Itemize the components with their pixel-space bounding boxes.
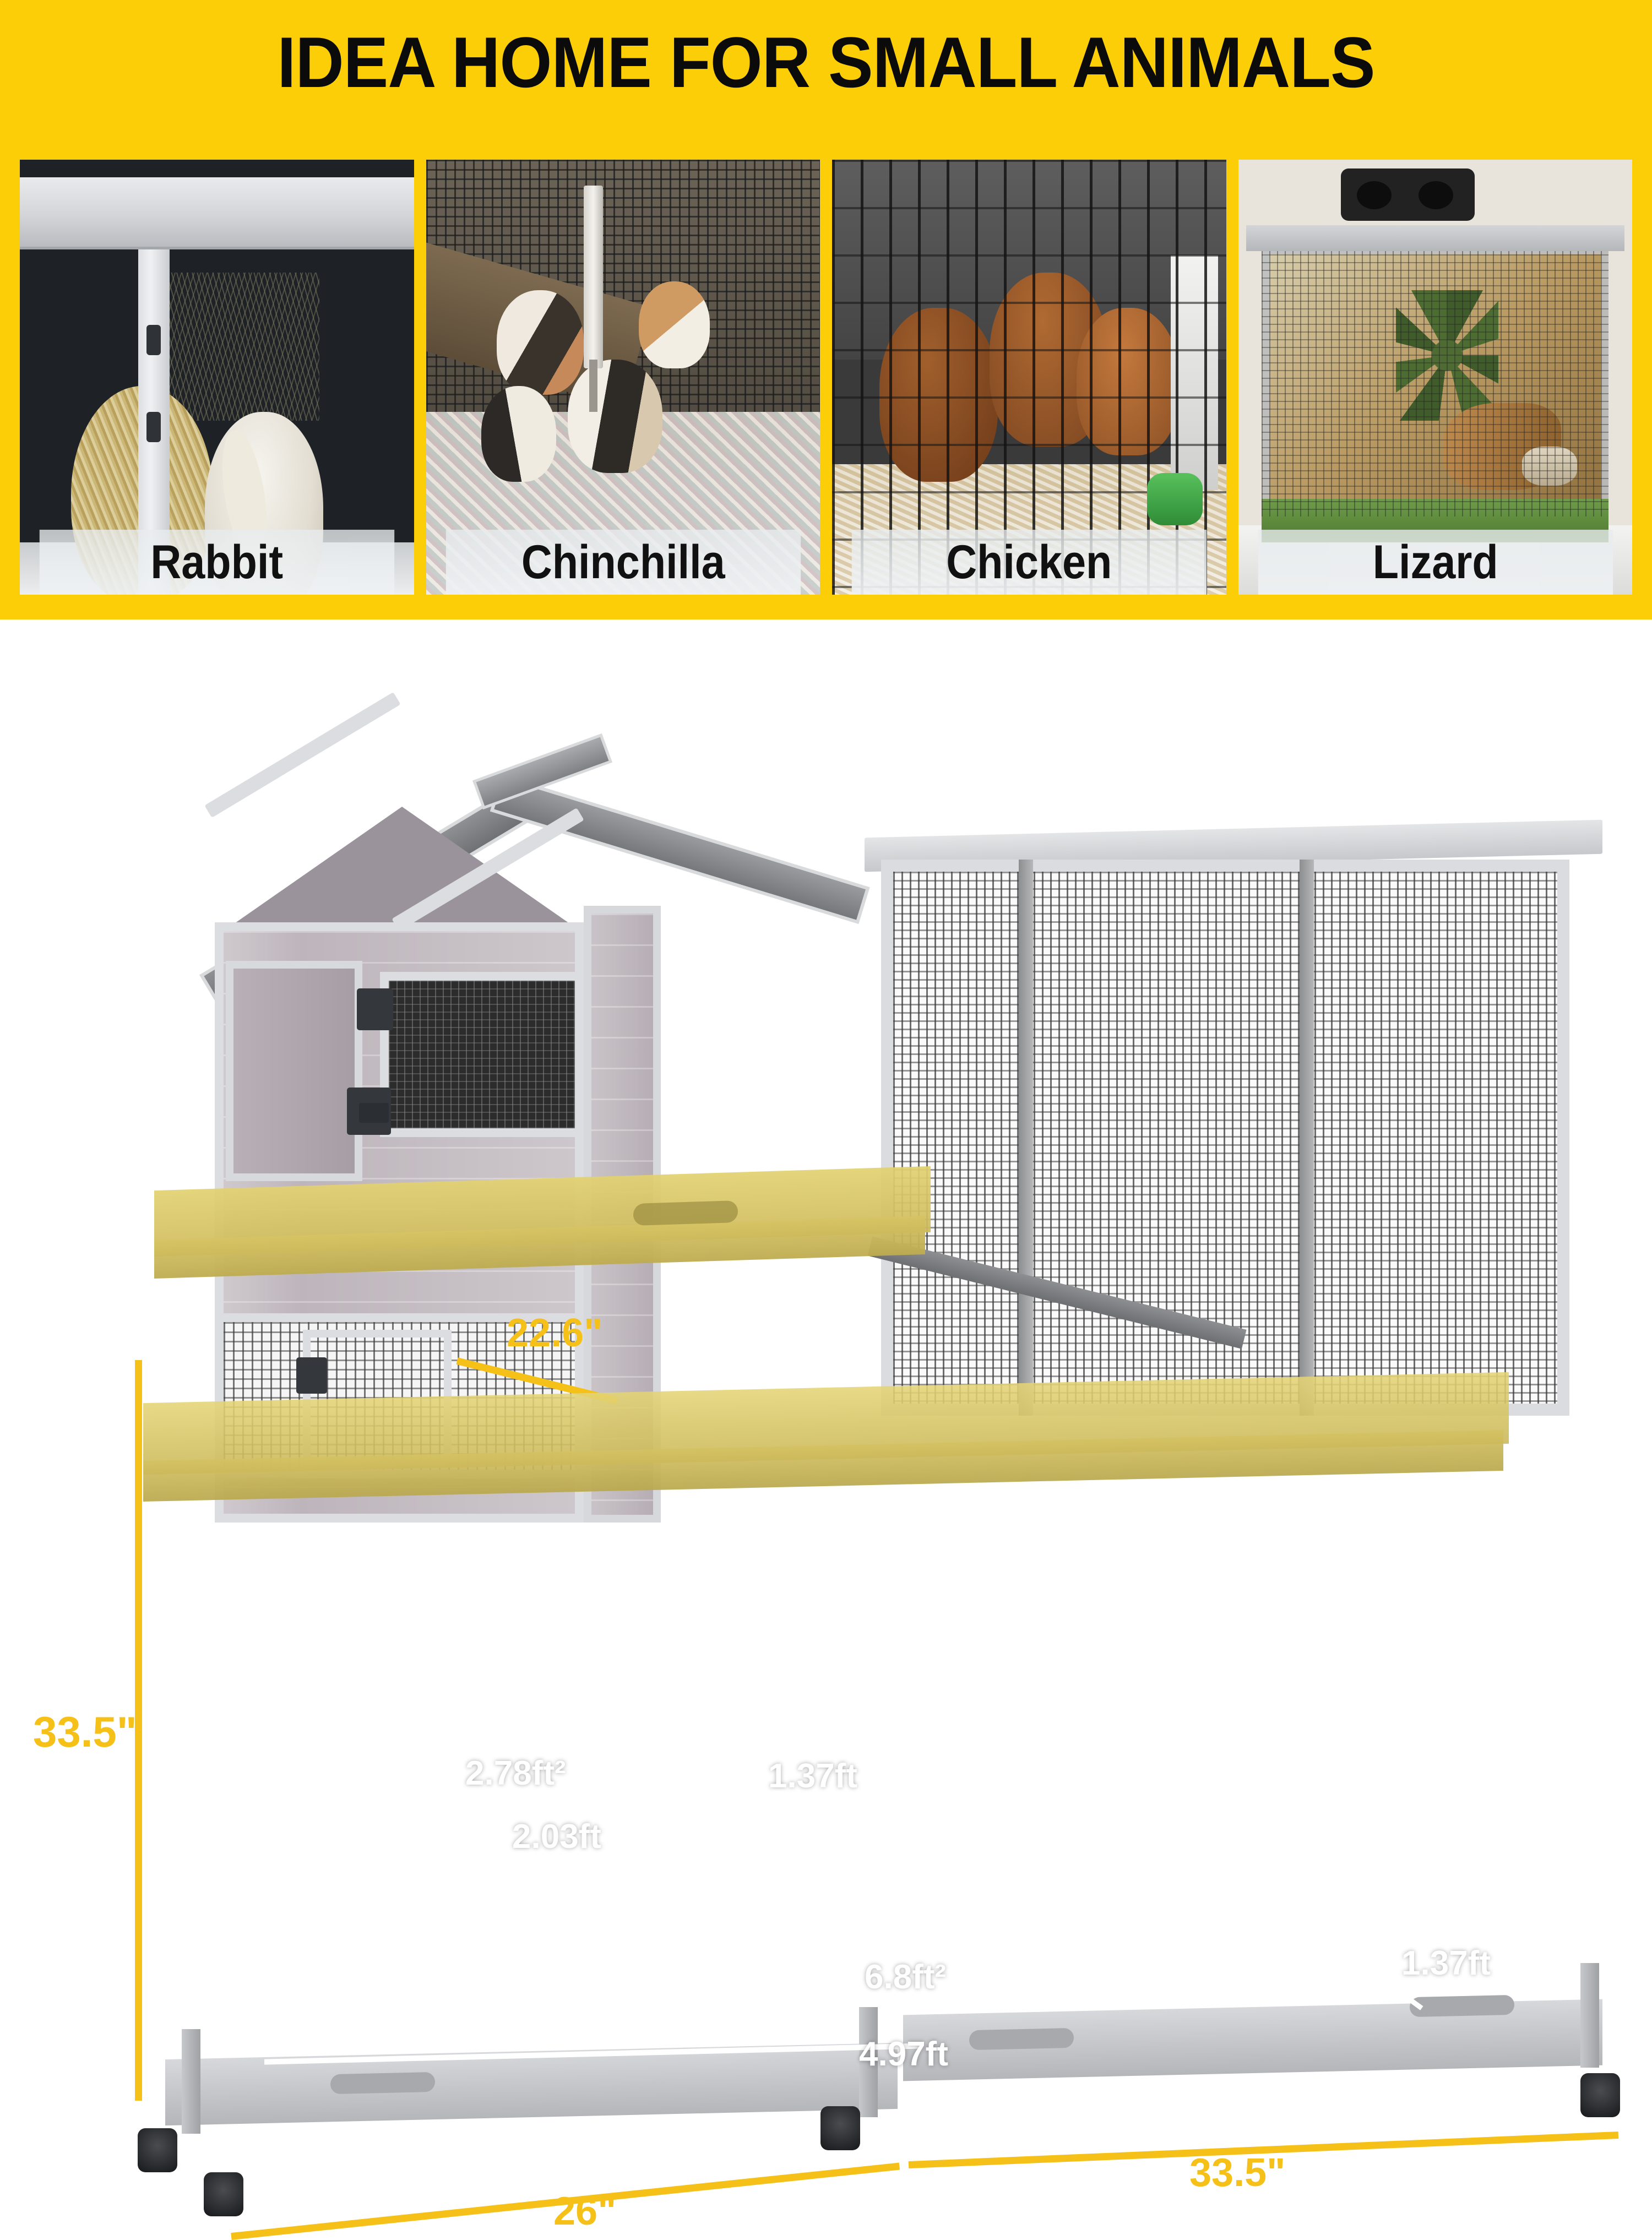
chinchilla-body <box>568 360 662 472</box>
chinchilla-body <box>497 290 583 395</box>
terrarium-mesh <box>1262 247 1608 516</box>
dimension-label-run-length: 33.5" <box>1189 2150 1285 2195</box>
dimension-label-upper-width: 2.03ft <box>512 1817 601 1856</box>
hinge-icon <box>146 325 161 355</box>
caster-wheel-icon <box>820 2106 860 2150</box>
water-bottle <box>584 186 604 368</box>
header-banner: IDEA HOME FOR SMALL ANIMALS Rabbit <box>0 0 1652 619</box>
chinchilla-body <box>639 281 710 368</box>
dimension-label-hutch-width: 26" <box>553 2189 616 2234</box>
photo-card-chicken: Chicken <box>832 160 1226 595</box>
tray-handle <box>633 1200 738 1226</box>
tray-handle <box>330 2072 435 2094</box>
hutch-shelf <box>20 177 414 249</box>
latch-icon[interactable] <box>359 1103 389 1123</box>
dimension-label-lower-depth: 1.37ft <box>1401 1944 1491 1983</box>
caster-wheel-icon <box>1580 2073 1620 2117</box>
photo-card-lizard: Lizard <box>1238 160 1633 595</box>
water-bottle-tip <box>589 360 598 412</box>
run-post <box>1019 860 1033 1416</box>
product-diagram: 22.6" 33.5" 2.78ft² 2.03ft 1.37ft 6.8ft²… <box>0 619 1652 1652</box>
page-title: IDEA HOME FOR SMALL ANIMALS <box>50 26 1602 98</box>
photo-label-rabbit: Rabbit <box>40 530 394 595</box>
mesh-texture <box>389 981 575 1128</box>
caster-wheel-icon <box>204 2172 243 2216</box>
run-post <box>1300 860 1314 1416</box>
leg <box>182 2029 200 2134</box>
hinge-icon <box>146 412 161 442</box>
dimension-label-upper-depth: 1.37ft <box>768 1757 857 1796</box>
mesh-texture <box>893 872 1557 1404</box>
animal-photo-strip: Rabbit Chinchilla Chicken <box>20 160 1632 595</box>
hinge-icon <box>357 988 393 1030</box>
area-label-lower-floor: 6.8ft² <box>865 1958 946 1997</box>
tray-handle <box>969 2028 1074 2050</box>
hay-texture <box>162 273 319 421</box>
dimension-label-roof-depth: 22.6" <box>507 1311 602 1356</box>
leg <box>1580 1963 1599 2068</box>
dimension-label-lower-width: 4.97ft <box>859 2035 948 2074</box>
heat-lamp-icon <box>1341 168 1475 221</box>
photo-label-chinchilla: Chinchilla <box>445 530 800 595</box>
gable-trim-left <box>204 692 400 818</box>
feed-bowl <box>1147 473 1202 525</box>
hutch-door[interactable] <box>226 961 362 1181</box>
photo-label-chicken: Chicken <box>852 530 1207 595</box>
photo-label-lizard: Lizard <box>1258 530 1612 595</box>
area-label-upper-floor: 2.78ft² <box>465 1754 566 1793</box>
tank-top-rail <box>1246 225 1624 251</box>
caster-wheel-icon <box>138 2128 177 2172</box>
tray-handle <box>1410 1995 1514 2017</box>
photo-card-rabbit: Rabbit <box>20 160 414 595</box>
photo-card-chinchilla: Chinchilla <box>426 160 820 595</box>
hinge-icon <box>296 1357 327 1394</box>
chinchilla-body <box>481 386 556 482</box>
hutch-mesh-window <box>380 972 584 1137</box>
dimension-label-overall-height: 33.5" <box>33 1707 137 1757</box>
